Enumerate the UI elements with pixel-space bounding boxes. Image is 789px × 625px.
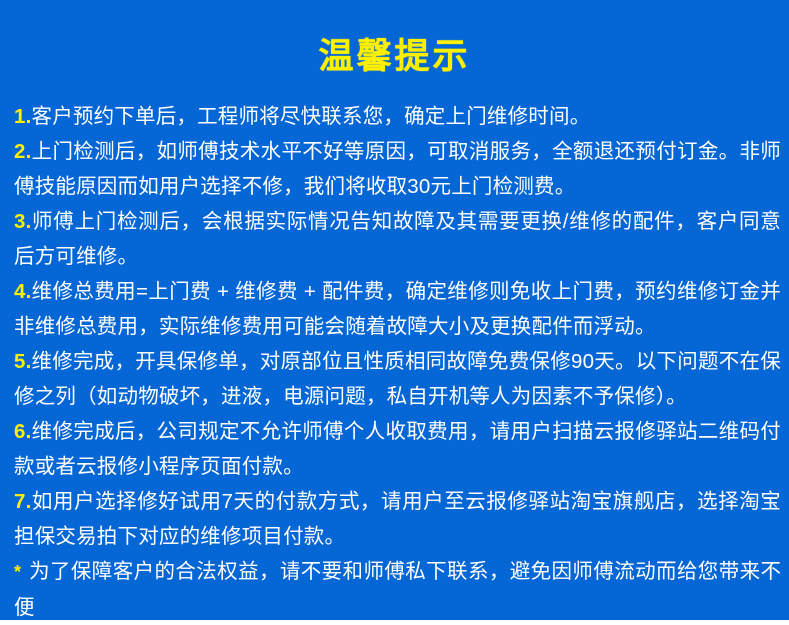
list-item-marker: 2. — [14, 140, 32, 163]
list-item-text: 师傅上门检测后，会根据实际情况告知故障及其需要更换/维修的配件，客户同意后方可维… — [14, 210, 781, 268]
notice-list: 1.客户预约下单后，工程师将尽快联系您，确定上门维修时间。 2.上门检测后，如师… — [0, 77, 789, 554]
list-item-marker: 6. — [14, 420, 32, 443]
list-item: 2.上门检测后，如师傅技术水平不好等原因，可取消服务，全额退还预付订金。非师傅技… — [14, 134, 781, 204]
list-item-marker: 3. — [14, 210, 32, 233]
footer-note-text: 为了保障客户的合法权益，请不要和师傅私下联系，避免因师傅流动而给您带来不便 — [14, 560, 781, 619]
list-item: 4.维修总费用=上门费 + 维修费 + 配件费，确定维修则免收上门费，预约维修订… — [14, 274, 781, 344]
list-item: 1.客户预约下单后，工程师将尽快联系您，确定上门维修时间。 — [14, 99, 781, 134]
footer-note: * 为了保障客户的合法权益，请不要和师傅私下联系，避免因师傅流动而给您带来不便 — [0, 554, 789, 625]
list-item-marker: 7. — [14, 490, 32, 513]
list-item-text: 维修完成后，公司规定不允许师傅个人收取费用，请用户扫描云报修驿站二维码付款或者云… — [14, 420, 781, 478]
list-item: 7.如用户选择修好试用7天的付款方式，请用户至云报修驿站淘宝旗舰店，选择淘宝担保… — [14, 484, 781, 554]
list-item-text: 如用户选择修好试用7天的付款方式，请用户至云报修驿站淘宝旗舰店，选择淘宝担保交易… — [14, 490, 781, 548]
list-item-text: 维修总费用=上门费 + 维修费 + 配件费，确定维修则免收上门费，预约维修订金并… — [14, 280, 781, 338]
list-item-text: 客户预约下单后，工程师将尽快联系您，确定上门维修时间。 — [32, 105, 591, 128]
list-item-text: 维修完成，开具保修单，对原部位且性质相同故障免费保修90天。以下问题不在保修之列… — [14, 350, 781, 408]
list-item-text: 上门检测后，如师傅技术水平不好等原因，可取消服务，全额退还预付订金。非师傅技能原… — [14, 140, 781, 198]
list-item-marker: 5. — [14, 350, 32, 373]
notice-card: 温馨提示 1.客户预约下单后，工程师将尽快联系您，确定上门维修时间。 2.上门检… — [0, 0, 789, 620]
page-title: 温馨提示 — [0, 0, 789, 77]
list-item-marker: 1. — [14, 105, 32, 128]
list-item-marker: 4. — [14, 280, 32, 303]
list-item: 5.维修完成，开具保修单，对原部位且性质相同故障免费保修90天。以下问题不在保修… — [14, 344, 781, 414]
asterisk-icon: * — [14, 562, 23, 582]
list-item: 3.师傅上门检测后，会根据实际情况告知故障及其需要更换/维修的配件，客户同意后方… — [14, 204, 781, 274]
list-item: 6.维修完成后，公司规定不允许师傅个人收取费用，请用户扫描云报修驿站二维码付款或… — [14, 414, 781, 484]
